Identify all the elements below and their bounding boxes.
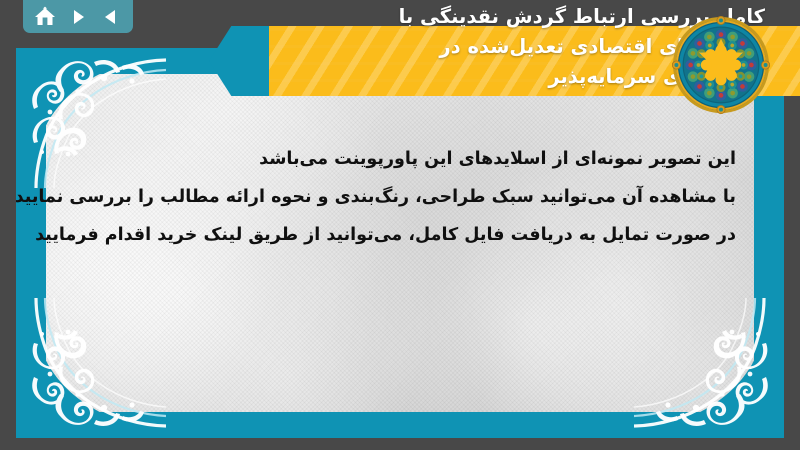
triangle-right-icon (68, 7, 88, 27)
home-button[interactable] (31, 4, 59, 30)
slide-content-card: این تصویر نمونه‌ای از اسلایدهای این پاور… (16, 48, 784, 438)
presentation-slide: این تصویر نمونه‌ای از اسلایدهای این پاور… (0, 0, 800, 450)
body-line-2: با مشاهده آن می‌توانید سبک طراحی، رنگ‌بن… (66, 178, 736, 216)
slide-body-text: این تصویر نمونه‌ای از اسلایدهای این پاور… (66, 140, 736, 254)
next-slide-button[interactable] (64, 4, 92, 30)
home-icon (34, 6, 56, 27)
slide-navigation-bar (23, 0, 133, 33)
triangle-left-icon (101, 7, 121, 27)
circular-mandala-medallion-icon (672, 16, 770, 114)
body-line-1: این تصویر نمونه‌ای از اسلایدهای این پاور… (66, 140, 736, 178)
previous-slide-button[interactable] (97, 4, 125, 30)
body-line-3: در صورت تمایل به دریافت فایل کامل، می‌تو… (66, 216, 736, 254)
